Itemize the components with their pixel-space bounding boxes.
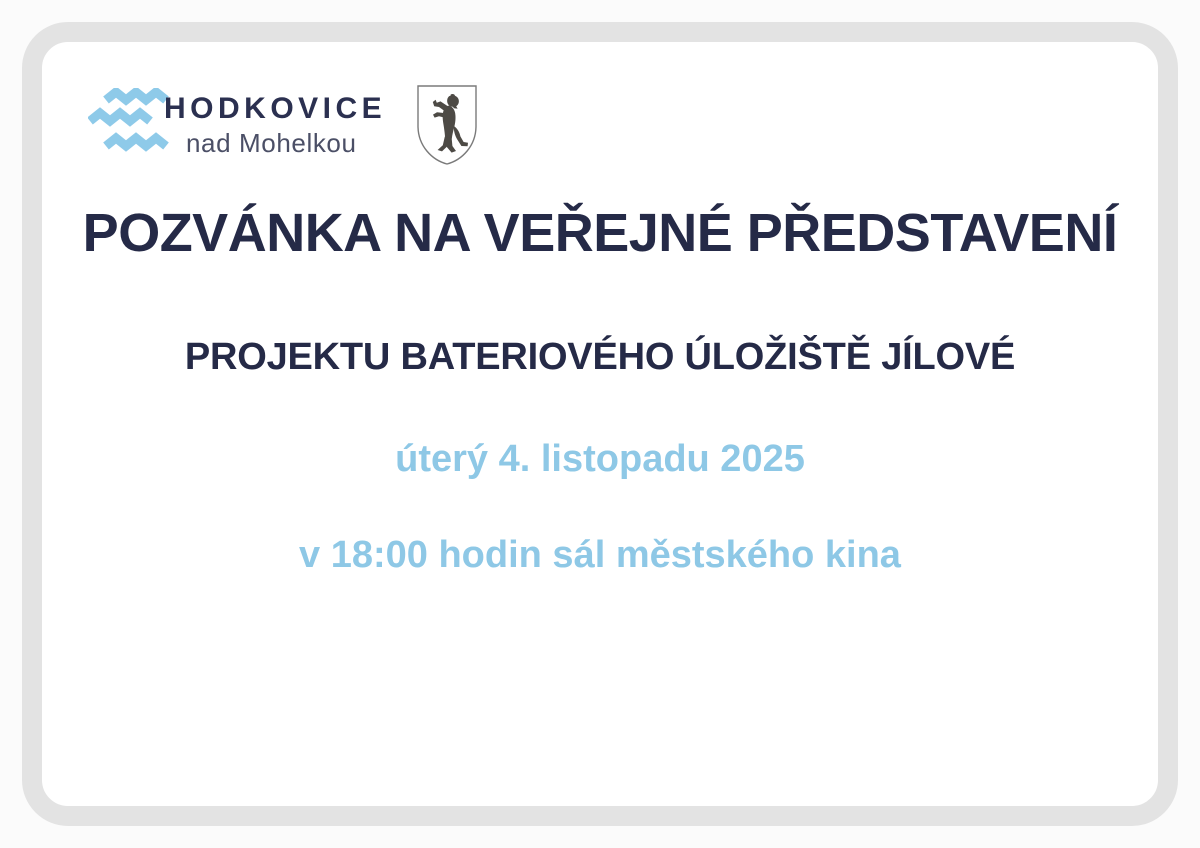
page-subtitle: PROJEKTU BATERIOVÉHO ÚLOŽIŠTĚ JÍLOVÉ	[42, 336, 1158, 379]
town-name: HODKOVICE	[164, 94, 386, 124]
poster-header: HODKOVICE nad Mohelkou	[88, 84, 478, 166]
town-wordmark: HODKOVICE nad Mohelkou	[164, 94, 386, 156]
event-time-venue: v 18:00 hodin sál městského kina	[42, 534, 1158, 577]
event-date: úterý 4. listopadu 2025	[42, 438, 1158, 481]
town-logo: HODKOVICE nad Mohelkou	[88, 88, 386, 162]
page-title: POZVÁNKA NA VEŘEJNÉ PŘEDSTAVENÍ	[42, 202, 1158, 264]
invitation-poster: HODKOVICE nad Mohelkou	[0, 0, 1200, 848]
water-waves-icon	[88, 88, 170, 162]
town-name-suffix: nad Mohelkou	[186, 130, 386, 156]
poster-content: HODKOVICE nad Mohelkou	[42, 42, 1158, 806]
coat-of-arms-bear-icon	[416, 84, 478, 166]
